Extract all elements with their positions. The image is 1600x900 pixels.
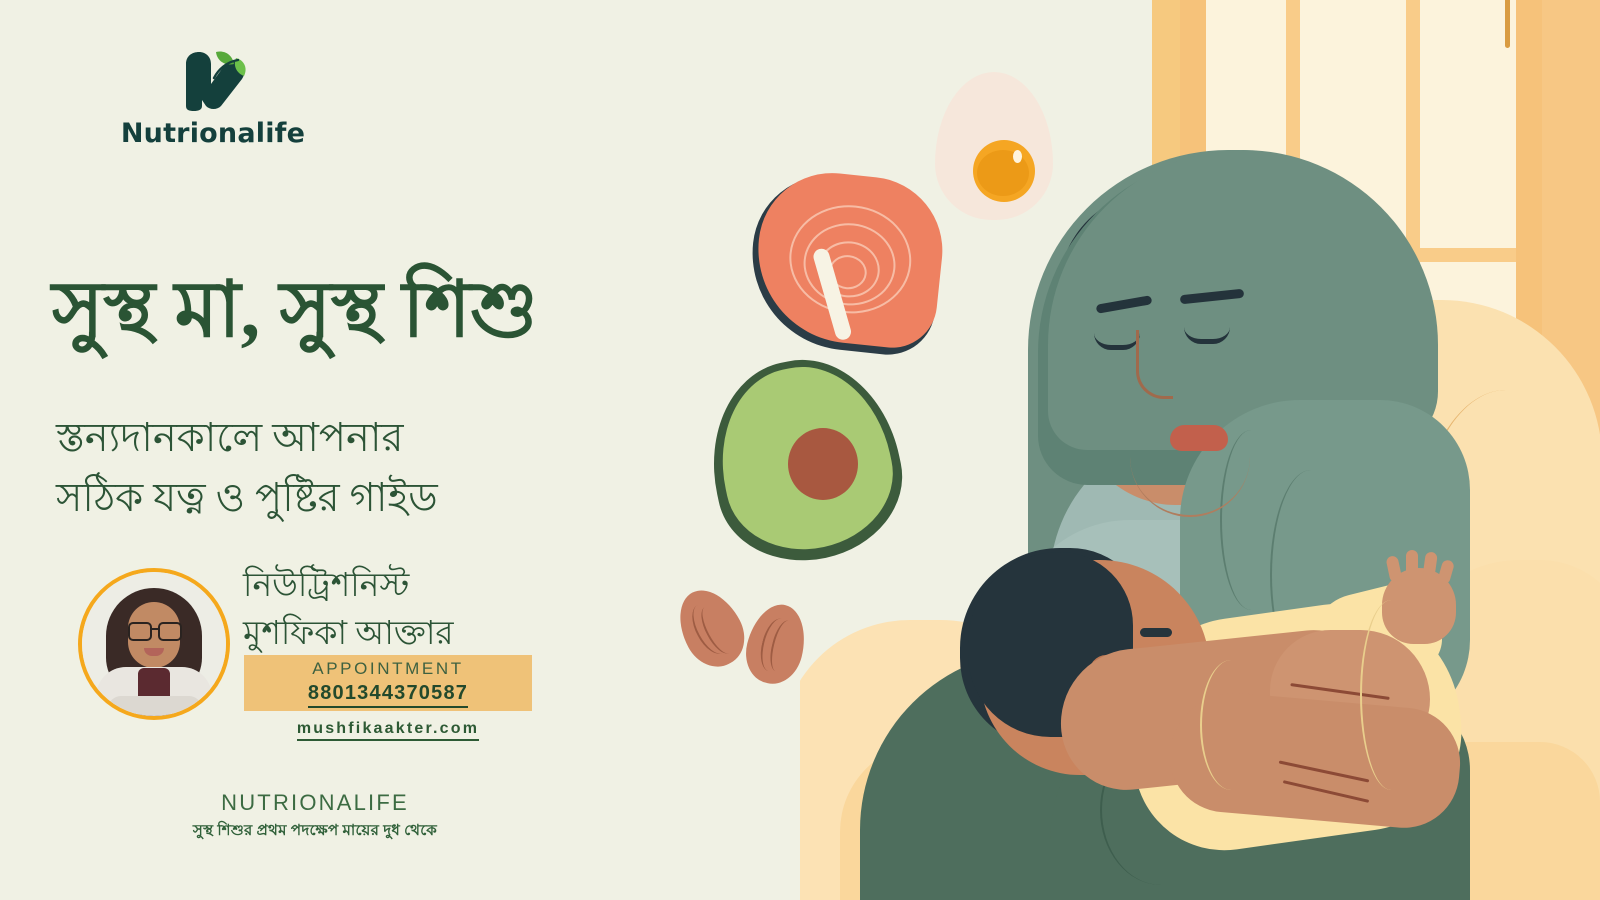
food-egg <box>935 72 1053 220</box>
egg-white-icon <box>935 72 1053 220</box>
nutritionist-credit: নিউট্রিশনিস্ট মুশফিকা আক্তার <box>243 563 663 659</box>
mother-lips <box>1170 425 1228 451</box>
footer-tagline: সুস্থ শিশুর প্রথম পদক্ষেপ মায়ের দুধ থেক… <box>110 819 520 844</box>
logo-leaf-n-icon <box>176 48 250 112</box>
egg-highlight <box>1013 150 1022 163</box>
logo-wordmark: Nutrionalife <box>88 118 338 149</box>
footer-brand-name: NUTRIONALIFE <box>110 790 520 816</box>
food-avocado <box>712 360 902 565</box>
illustration-scene <box>800 0 1600 900</box>
mother-nose <box>1136 330 1173 399</box>
avatar-glasses-lens <box>128 622 152 641</box>
window-latch <box>1505 0 1510 48</box>
nutritionist-role: নিউট্রিশনিস্ট <box>243 563 663 611</box>
avatar <box>78 568 230 720</box>
appointment-label: APPOINTMENT <box>312 658 463 679</box>
baby-sleeve-line <box>1200 660 1262 790</box>
website-link[interactable]: mushfikaakter.com <box>244 720 532 738</box>
footer: NUTRIONALIFE সুস্থ শিশুর প্রথম পদক্ষেপ ম… <box>110 790 520 844</box>
subtitle-line-2: সঠিক যত্ন ও পুষ্টির গাইড <box>56 468 576 528</box>
poster-canvas: Nutrionalife সুস্থ মা, সুস্থ শিশু স্তন্য… <box>0 0 1600 900</box>
appointment-box[interactable]: APPOINTMENT 8801344370587 <box>244 655 532 711</box>
baby-finger <box>1406 550 1418 580</box>
brand-logo[interactable]: Nutrionalife <box>88 48 338 149</box>
page-title: সুস্থ মা, সুস্থ শিশু <box>52 266 772 353</box>
subtitle: স্তন্যদানকালে আপনার সঠিক যত্ন ও পুষ্টির … <box>56 408 576 528</box>
avatar-glasses-lens <box>158 622 182 641</box>
website-url: mushfikaakter.com <box>297 720 479 741</box>
food-almonds <box>682 588 842 688</box>
baby-eye <box>1140 628 1172 637</box>
baby-outfit-fold <box>1360 600 1422 790</box>
appointment-phone[interactable]: 8801344370587 <box>308 680 468 708</box>
avatar-glasses-bridge <box>150 628 158 630</box>
subtitle-line-1: স্তন্যদানকালে আপনার <box>56 408 576 468</box>
nutritionist-name: মুশফিকা আক্তার <box>243 611 663 659</box>
avocado-pit <box>788 428 858 500</box>
